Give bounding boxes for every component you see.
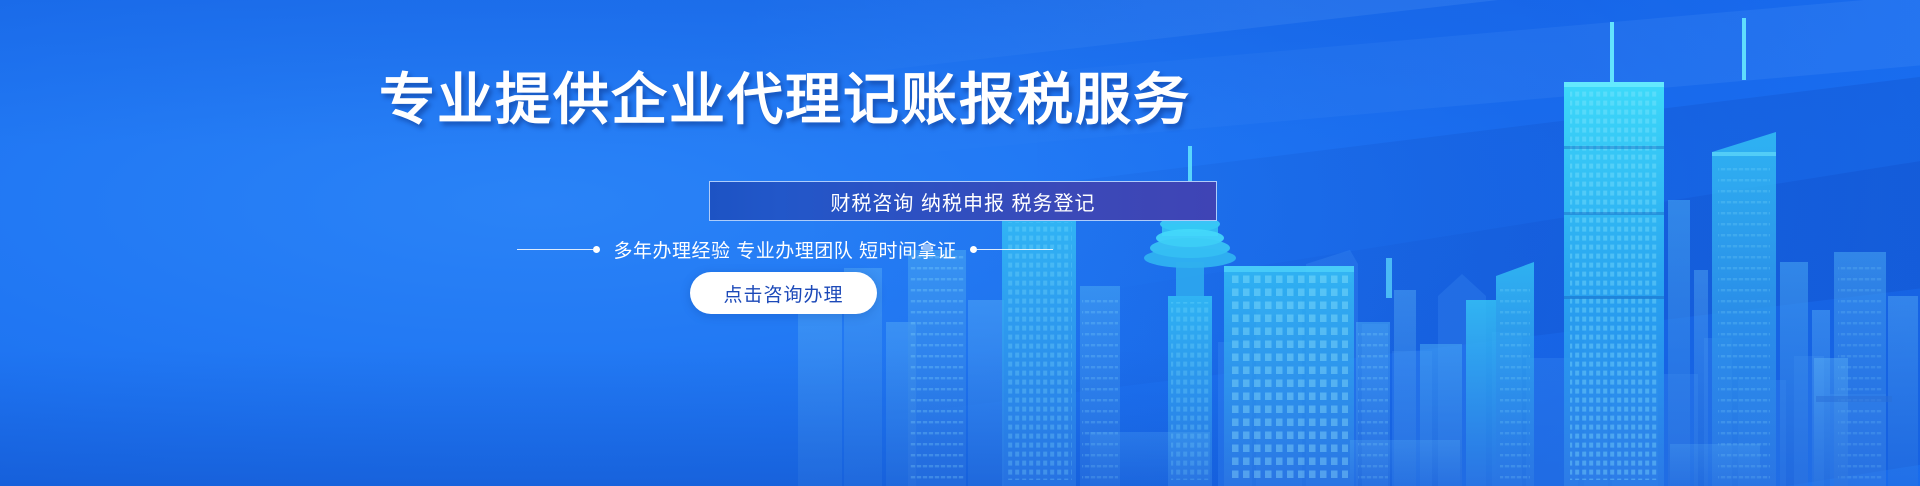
promo-banner: 专业提供企业代理记账报税服务 财税咨询 纳税申报 税务登记 多年办理经验 专业办… (0, 0, 1920, 486)
page-title: 专业提供企业代理记账报税服务 (0, 68, 1570, 132)
banner-content: 专业提供企业代理记账报税服务 财税咨询 纳税申报 税务登记 多年办理经验 专业办… (0, 0, 1920, 486)
deco-line-right-icon (970, 246, 1053, 253)
service-list-text: 财税咨询 纳税申报 税务登记 (830, 187, 1095, 216)
consult-cta-button[interactable]: 点击咨询办理 (690, 272, 877, 314)
service-list-bar: 财税咨询 纳税申报 税务登记 (709, 181, 1217, 221)
deco-line-left-icon (517, 246, 600, 253)
tagline-row: 多年办理经验 专业办理团队 短时间拿证 (0, 236, 1570, 263)
tagline-text: 多年办理经验 专业办理团队 短时间拿证 (613, 236, 956, 263)
